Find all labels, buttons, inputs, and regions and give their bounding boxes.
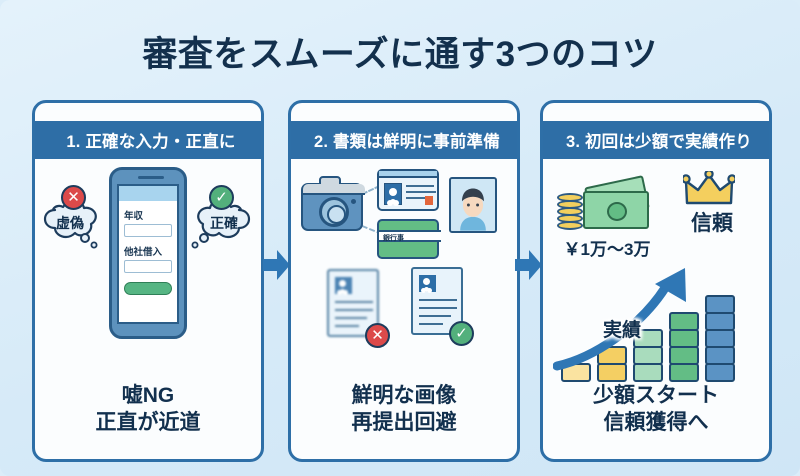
phone-speaker xyxy=(138,176,164,179)
id-card-icon xyxy=(377,169,439,211)
document-text-line xyxy=(335,325,359,327)
card-3-caption-line2: 信頼獲得へ xyxy=(543,409,769,437)
trust-label: 信頼 xyxy=(671,207,753,237)
cross-icon: ✕ xyxy=(61,185,86,210)
card-3-caption-line1: 少額スタート xyxy=(593,384,719,407)
document-photo xyxy=(335,277,352,294)
card-step-3: 3. 初回は少額で実績作り ￥1万〜3万 信頼 xyxy=(540,100,772,462)
id-text-line xyxy=(406,191,436,193)
document-text-line xyxy=(335,309,373,311)
portrait-photo-icon xyxy=(449,177,497,233)
phone-screen: 年収 他社借入 xyxy=(117,184,179,324)
bubble-dots-icon xyxy=(191,233,211,249)
bank-card-label: 銀行事 xyxy=(383,233,404,243)
card-step-1: 1. 正確な入力・正直に 虚偽 ✕ 年収 xyxy=(32,100,264,462)
submit-button[interactable] xyxy=(124,282,172,295)
card-1-caption-line1: 嘘NG xyxy=(122,384,175,407)
card-3-header: 3. 初回は少額で実績作り xyxy=(540,121,772,159)
card-1-header: 1. 正確な入力・正直に xyxy=(32,121,264,159)
bubble-label-false: 虚偽 xyxy=(39,213,101,233)
id-stamp-icon xyxy=(425,196,433,205)
camera-lens xyxy=(319,197,349,227)
bank-card-icon: 銀行事 xyxy=(377,219,439,259)
card-2-header-label: 2. 書類は鮮明に事前準備 xyxy=(314,128,500,152)
id-card-header xyxy=(379,171,437,178)
card-step-2: 2. 書類は鮮明に事前準備 銀行事 xyxy=(288,100,520,462)
id-photo xyxy=(384,183,402,205)
infographic-canvas: 審査をスムーズに通す3つのコツ 1. 正確な入力・正直に 虚偽 ✕ xyxy=(0,0,800,476)
card-2-illustration: 銀行事 ✕ xyxy=(291,163,517,388)
bank-card-strip: 銀行事 xyxy=(379,230,441,242)
card-1-caption-line2: 正直が近道 xyxy=(35,409,261,437)
camera-top-plate xyxy=(303,184,365,195)
portrait-figure xyxy=(451,179,495,231)
card-2-caption: 鮮明な画像 再提出回避 xyxy=(291,382,517,437)
thought-bubble-accurate-info: 正確 ✓ xyxy=(193,187,255,245)
banknote-seal xyxy=(607,202,627,221)
thought-bubble-false-info: 虚偽 ✕ xyxy=(39,187,101,245)
card-1-illustration: 虚偽 ✕ 年収 他社借入 xyxy=(35,163,261,388)
page-title: 審査をスムーズに通す3つのコツ xyxy=(0,26,800,77)
check-icon: ✓ xyxy=(209,185,234,210)
document-text-line xyxy=(419,299,457,301)
growth-arrow-icon xyxy=(553,254,733,374)
card-1-caption: 嘘NG 正直が近道 xyxy=(35,382,261,437)
document-text-line xyxy=(419,323,443,325)
crown-icon xyxy=(683,171,735,207)
document-text-line xyxy=(335,301,373,303)
bubble-label-accurate: 正確 xyxy=(193,213,255,233)
app-header-bar xyxy=(119,186,177,201)
achievement-label: 実績 xyxy=(603,315,641,342)
id-text-line xyxy=(406,185,434,187)
card-3-caption: 少額スタート 信頼獲得へ xyxy=(543,382,769,437)
other-loans-input[interactable] xyxy=(124,260,172,273)
coin xyxy=(557,193,583,202)
camera-flash xyxy=(351,199,356,204)
field-label-income: 年収 xyxy=(124,208,177,222)
income-input[interactable] xyxy=(124,224,172,237)
bubble-dots-icon xyxy=(79,233,99,249)
cross-icon: ✕ xyxy=(365,323,390,348)
card-1-header-label: 1. 正確な入力・正直に xyxy=(66,128,235,152)
card-3-illustration: ￥1万〜3万 信頼 xyxy=(543,163,769,388)
card-2-caption-line1: 鮮明な画像 xyxy=(352,384,457,407)
document-text-line xyxy=(335,317,367,319)
field-label-other-loans: 他社借入 xyxy=(124,244,177,258)
coin-stack-icon xyxy=(557,195,583,229)
check-icon: ✓ xyxy=(449,321,474,346)
document-text-line xyxy=(419,307,457,309)
smartphone-form: 年収 他社借入 xyxy=(109,167,187,339)
document-photo xyxy=(419,275,436,292)
document-text-line xyxy=(419,315,451,317)
camera-icon xyxy=(301,183,363,231)
card-2-header: 2. 書類は鮮明に事前準備 xyxy=(288,121,520,159)
card-3-header-label: 3. 初回は少額で実績作り xyxy=(566,128,752,152)
card-2-caption-line2: 再提出回避 xyxy=(291,409,517,437)
banknote-front xyxy=(583,191,649,229)
